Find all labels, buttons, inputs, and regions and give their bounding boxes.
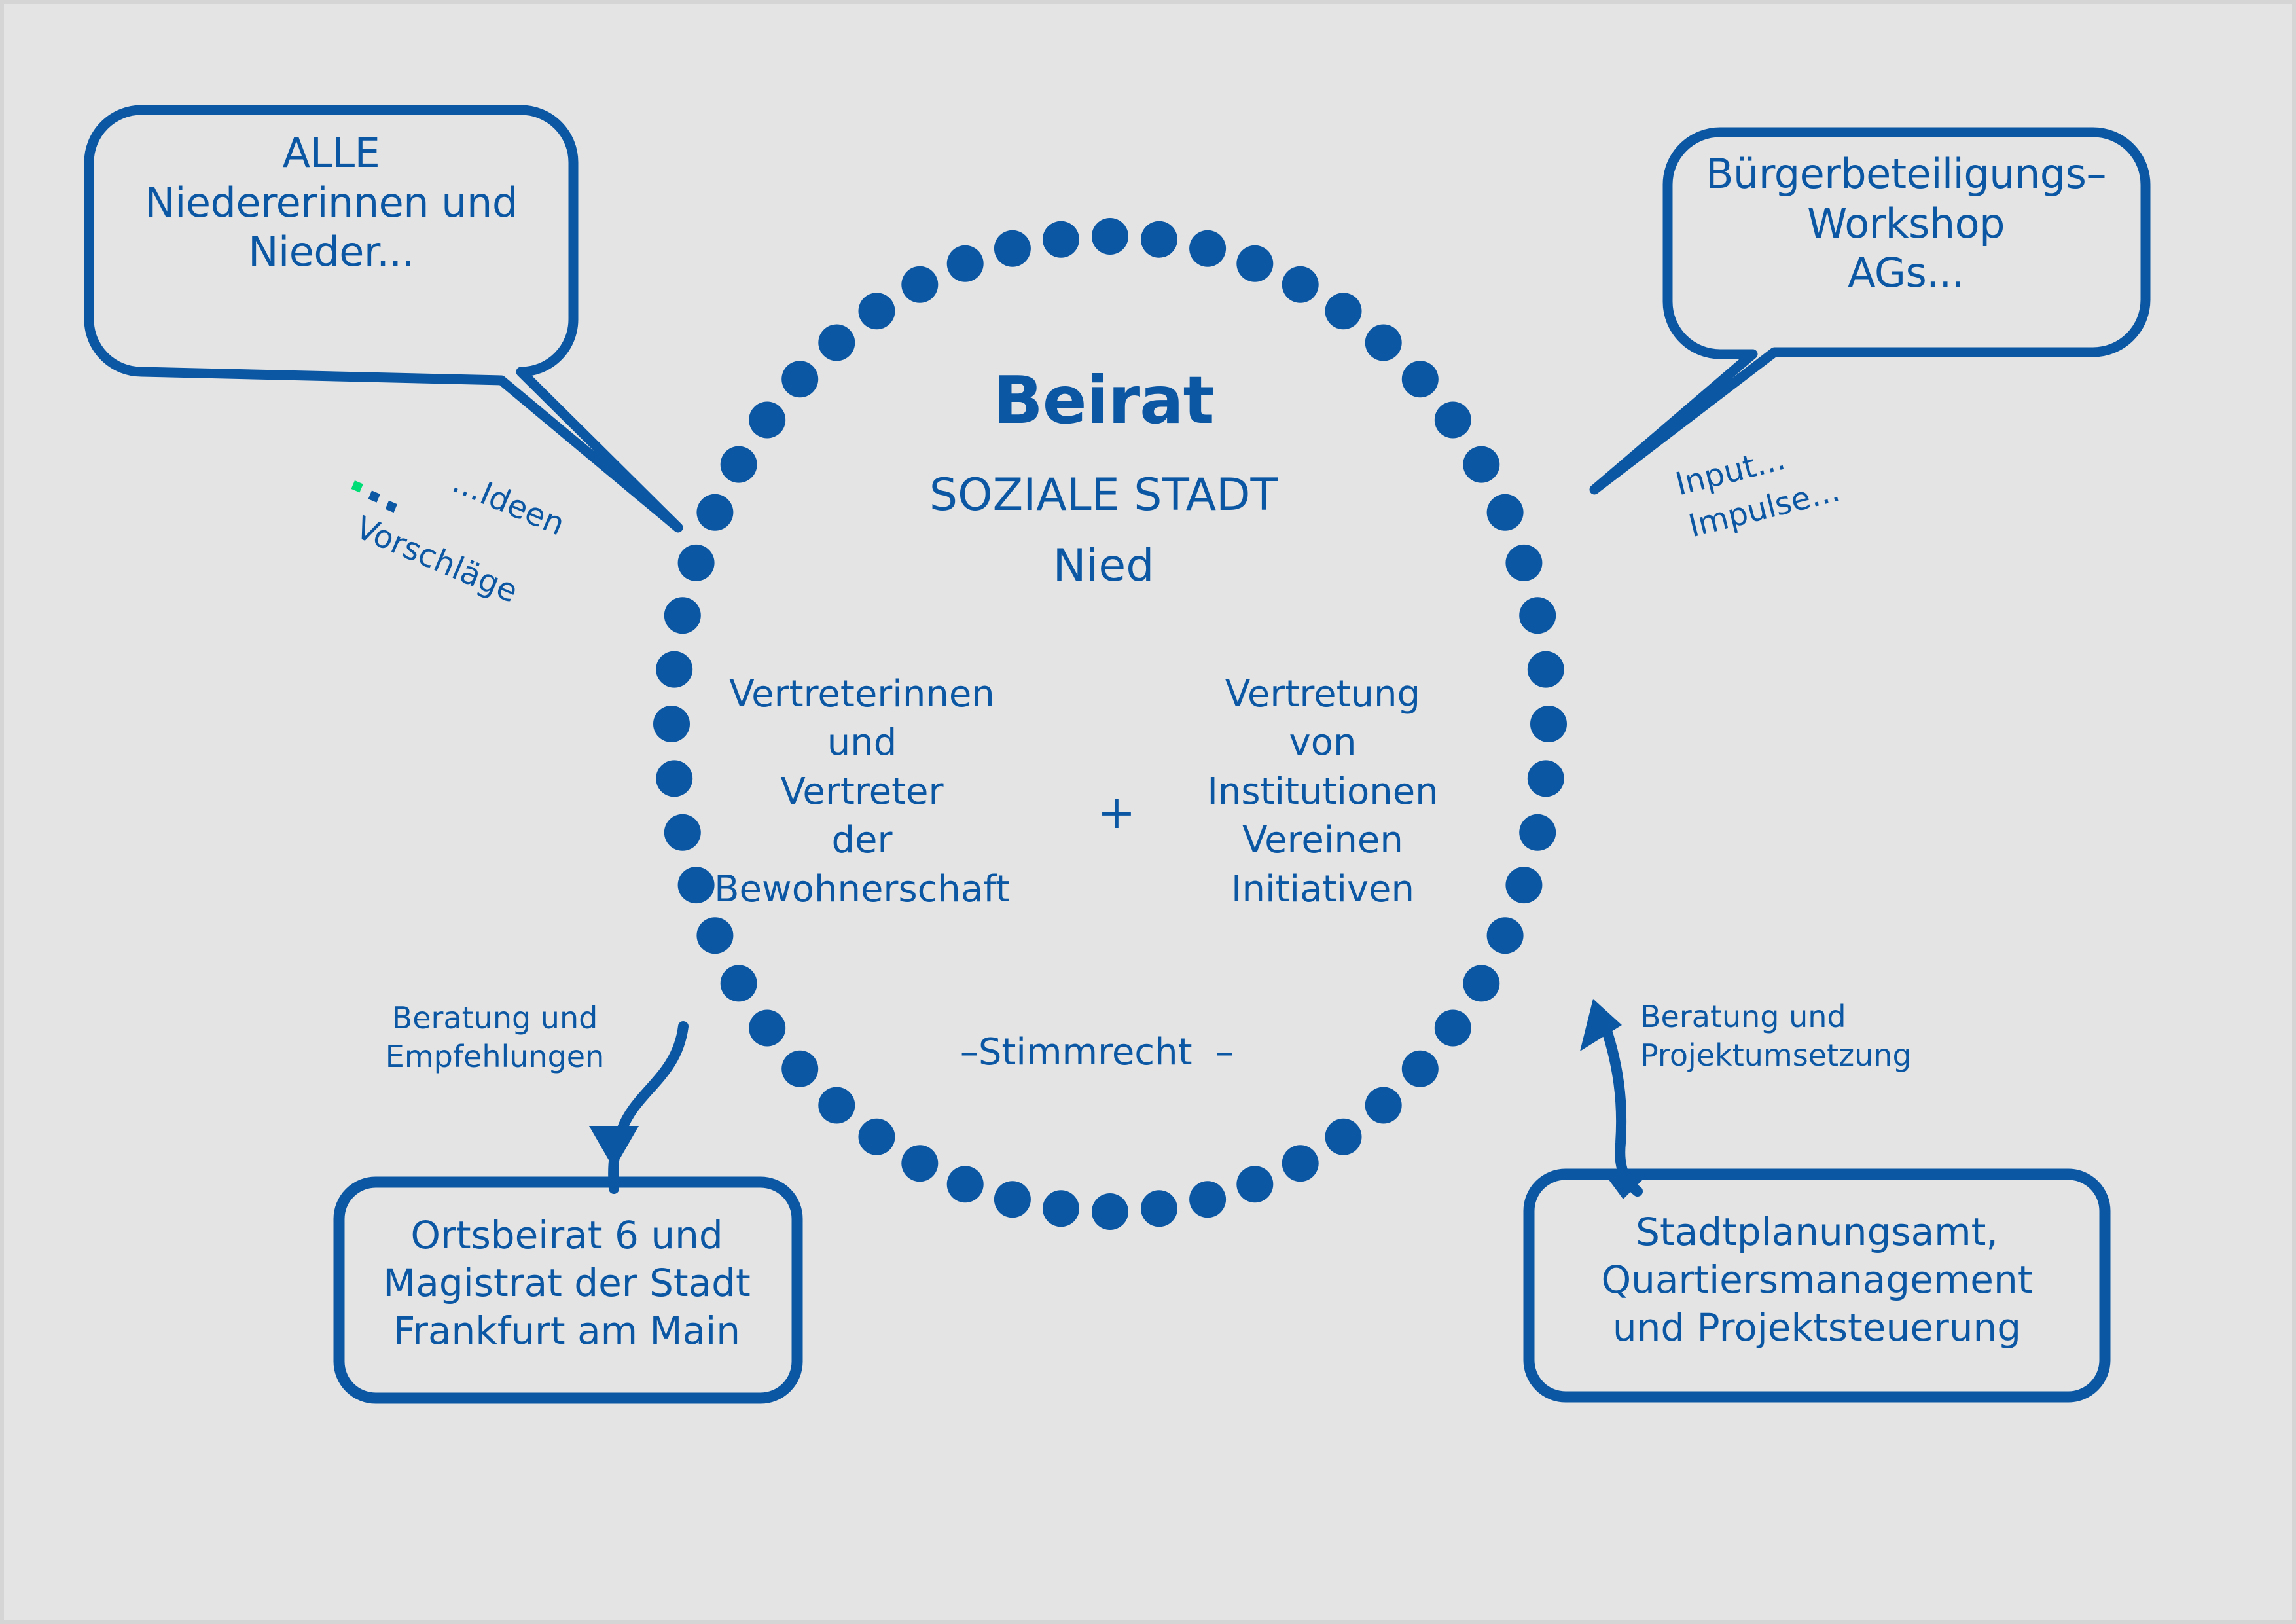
ring-dot <box>1365 325 1402 361</box>
box-bottom-right-label: Stadtplanungsamt, Quartiersmanagement un… <box>1535 1208 2098 1352</box>
ring-dot <box>1236 1166 1273 1202</box>
ring-dot <box>1528 651 1564 688</box>
ring-dot <box>749 1010 785 1047</box>
ring-dot <box>1282 1145 1319 1182</box>
ring-dot <box>1043 1190 1079 1227</box>
ring-dot <box>1530 706 1567 742</box>
ring-dot <box>1402 1051 1439 1087</box>
ring-dot <box>1505 545 1542 581</box>
speech-bubble-left-text: ALLE Niedererinnen und Nieder... <box>96 128 567 277</box>
ring-dot <box>994 1181 1031 1218</box>
ring-dot <box>1435 1010 1471 1047</box>
ring-dot <box>1141 221 1177 258</box>
page-title: Beirat <box>796 363 1411 438</box>
ring-dot <box>1043 221 1079 258</box>
ring-dot <box>1519 814 1556 851</box>
members-column-residents: Vertreterinnen und Vertreter der Bewohne… <box>689 670 1035 914</box>
ring-dot <box>1487 494 1524 531</box>
ring-dot <box>818 325 855 361</box>
ring-dot <box>1092 218 1128 255</box>
ring-dot <box>1519 597 1556 634</box>
ring-dot <box>1189 1181 1226 1218</box>
ring-dot <box>1325 293 1362 329</box>
ring-dot <box>859 1119 895 1155</box>
ring-dot <box>656 760 692 797</box>
ring-dot <box>901 1145 938 1182</box>
subtitle-line-1: SOZIALE STADT <box>796 470 1411 521</box>
ring-dot <box>1435 402 1471 439</box>
ring-dot <box>1092 1193 1128 1230</box>
ring-dot <box>696 494 733 531</box>
ring-dot <box>678 545 715 581</box>
voting-rights-note: –Stimmrecht – <box>881 1032 1313 1074</box>
ring-dot <box>859 293 895 329</box>
ring-dot <box>1189 230 1226 267</box>
ring-dot <box>653 706 690 742</box>
box-bottom-left-label: Ortsbeirat 6 und Magistrat der Stadt Fra… <box>344 1212 789 1355</box>
members-column-institutions: Vertretung von Institutionen Vereinen In… <box>1182 670 1463 914</box>
ring-dot <box>1505 867 1542 903</box>
ring-dot <box>1236 245 1273 282</box>
ring-dot <box>1487 917 1524 954</box>
plus-icon: + <box>1084 786 1149 839</box>
ring-dot <box>1528 760 1564 797</box>
ring-dot <box>721 965 757 1001</box>
ring-dot <box>721 446 757 483</box>
ring-dot <box>947 1166 984 1202</box>
ring-dot <box>781 1051 818 1087</box>
annotation-bottom-right: Beratung und Projektumsetzung <box>1640 998 1967 1075</box>
ring-dot <box>901 266 938 303</box>
ring-dot <box>664 597 701 634</box>
ring-dot <box>1282 266 1319 303</box>
ring-dot <box>696 917 733 954</box>
ring-dot <box>1365 1087 1402 1124</box>
ring-dot <box>818 1087 855 1124</box>
diagram-canvas: ALLE Niedererinnen und Nieder... Bürgerb… <box>0 0 2296 1624</box>
ring-dot <box>1141 1190 1177 1227</box>
ring-dot <box>1463 965 1499 1001</box>
ring-dot <box>749 402 785 439</box>
speech-bubble-right-text: Bürgerbeteiligungs– Workshop AGs... <box>1672 149 2140 298</box>
ring-dot <box>947 245 984 282</box>
subtitle-line-2: Nied <box>796 541 1411 592</box>
ring-dot <box>656 651 692 688</box>
ring-dot <box>994 230 1031 267</box>
ring-dot <box>1325 1119 1362 1155</box>
ring-dot <box>1463 446 1499 483</box>
annotation-bottom-left: Beratung und Empfehlungen <box>357 999 632 1076</box>
